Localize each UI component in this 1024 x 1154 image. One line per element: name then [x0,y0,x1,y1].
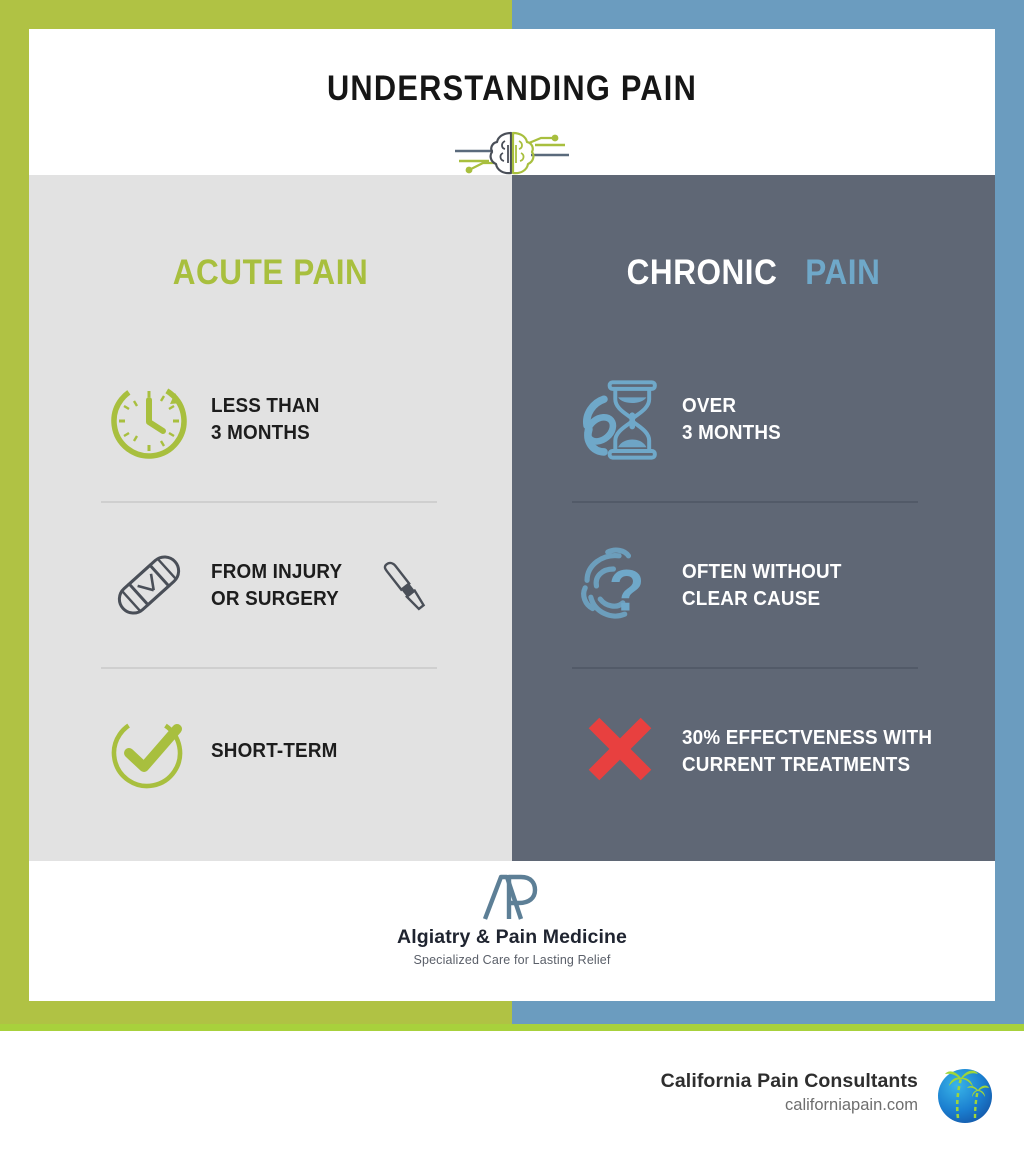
chronic-row-duration-text: OVER 3 MONTHS [682,392,781,447]
chronic-row-cause-text: OFTEN WITHOUT CLEAR CAUSE [682,558,842,613]
acute-row-cause-text: FROM INJURY OR SURGERY [211,558,342,613]
chronic-rows: OVER 3 MONTHS [512,363,995,807]
chronic-row-effectiveness: 30% EFFECTVENESS WITH CURRENT TREATMENTS [512,695,995,807]
comparison-panels: ACUTE PAIN [29,175,995,861]
frame-underline-accent [0,1024,1024,1031]
chronic-separator-1 [572,501,918,503]
hourglass-chain-icon [572,368,668,470]
acute-rows: LESS THAN 3 MONTHS [29,363,512,807]
chronic-row-duration: OVER 3 MONTHS [512,363,995,475]
chronic-separator-2 [572,667,918,669]
chronic-row-cause: ? OFTEN WITHOUT CLEAR CAUSE [512,529,995,641]
panel-acute-pain: ACUTE PAIN [29,175,512,861]
content-card: UNDERSTANDING PAIN [29,29,995,1001]
acute-row-duration-text: LESS THAN 3 MONTHS [211,392,320,447]
page-title: UNDERSTANDING PAIN [87,69,937,109]
acute-row-term: SHORT-TERM [29,695,512,807]
panel-title-chronic-secondary: PAIN [805,253,880,292]
acute-separator-2 [101,667,437,669]
panel-chronic-pain: CHRONIC PAIN [512,175,995,861]
infographic-poster: UNDERSTANDING PAIN [0,0,1024,1154]
panel-title-acute-label: ACUTE PAIN [173,253,369,292]
clock-arrow-icon [101,373,197,465]
header: UNDERSTANDING PAIN [29,29,995,175]
svg-text:?: ? [609,558,645,623]
panel-title-acute: ACUTE PAIN [53,253,488,293]
panel-title-chronic: CHRONIC PAIN [536,253,971,293]
brain-hemispheres-icon [453,129,571,177]
practice-name: Algiatry & Pain Medicine [397,926,627,949]
ap-monogram-icon [481,873,543,923]
footer-text-group: California Pain Consultants californiapa… [661,1070,918,1115]
acute-row-duration: LESS THAN 3 MONTHS [29,363,512,475]
practice-logo-block: Algiatry & Pain Medicine Specialized Car… [29,861,995,1001]
globe-palm-trees-icon [932,1060,998,1126]
chronic-row-effectiveness-text: 30% EFFECTVENESS WITH CURRENT TREATMENTS [682,724,932,779]
red-x-icon [572,709,668,793]
check-circle-icon [101,705,197,797]
footer: California Pain Consultants californiapa… [0,1031,1024,1154]
footer-url[interactable]: californiapain.com [661,1096,918,1115]
scalpel-icon [376,553,432,617]
acute-row-term-text: SHORT-TERM [211,737,338,764]
bandage-icon [101,539,197,631]
acute-row-cause: FROM INJURY OR SURGERY [29,529,512,641]
practice-tagline: Specialized Care for Lasting Relief [413,953,610,967]
acute-separator-1 [101,501,437,503]
panel-title-chronic-primary: CHRONIC [627,253,778,292]
footer-company-name: California Pain Consultants [661,1070,918,1093]
swirl-question-icon: ? [572,534,668,636]
